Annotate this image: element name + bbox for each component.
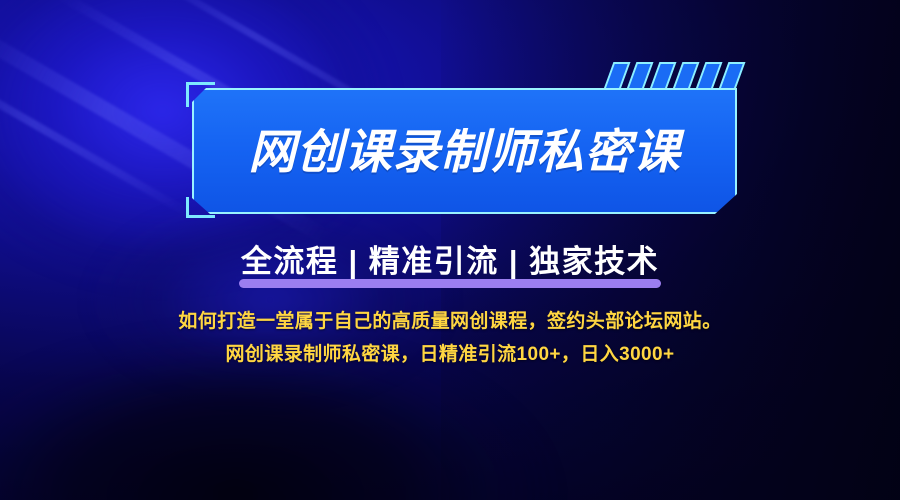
description-line-1: 如何打造一堂属于自己的高质量网创课程，签约头部论坛网站。 — [0, 306, 900, 333]
promo-poster: 网创课录制师私密课 全流程 | 精准引流 | 独家技术 如何打造一堂属于自己的高… — [0, 0, 900, 500]
banner-body: 网创课录制师私密课 — [192, 88, 737, 214]
subtitle-block: 全流程 | 精准引流 | 独家技术 — [237, 243, 663, 288]
subtitle-text: 全流程 | 精准引流 | 独家技术 — [241, 244, 659, 279]
banner-title: 网创课录制师私密课 — [249, 128, 681, 175]
subtitle-underline — [239, 279, 661, 288]
description-line-2: 网创课录制师私密课，日精准引流100+，日入3000+ — [0, 339, 900, 366]
subtitle-row: 全流程 | 精准引流 | 独家技术 — [0, 243, 900, 288]
headline-banner: 网创课录制师私密课 — [186, 60, 742, 218]
